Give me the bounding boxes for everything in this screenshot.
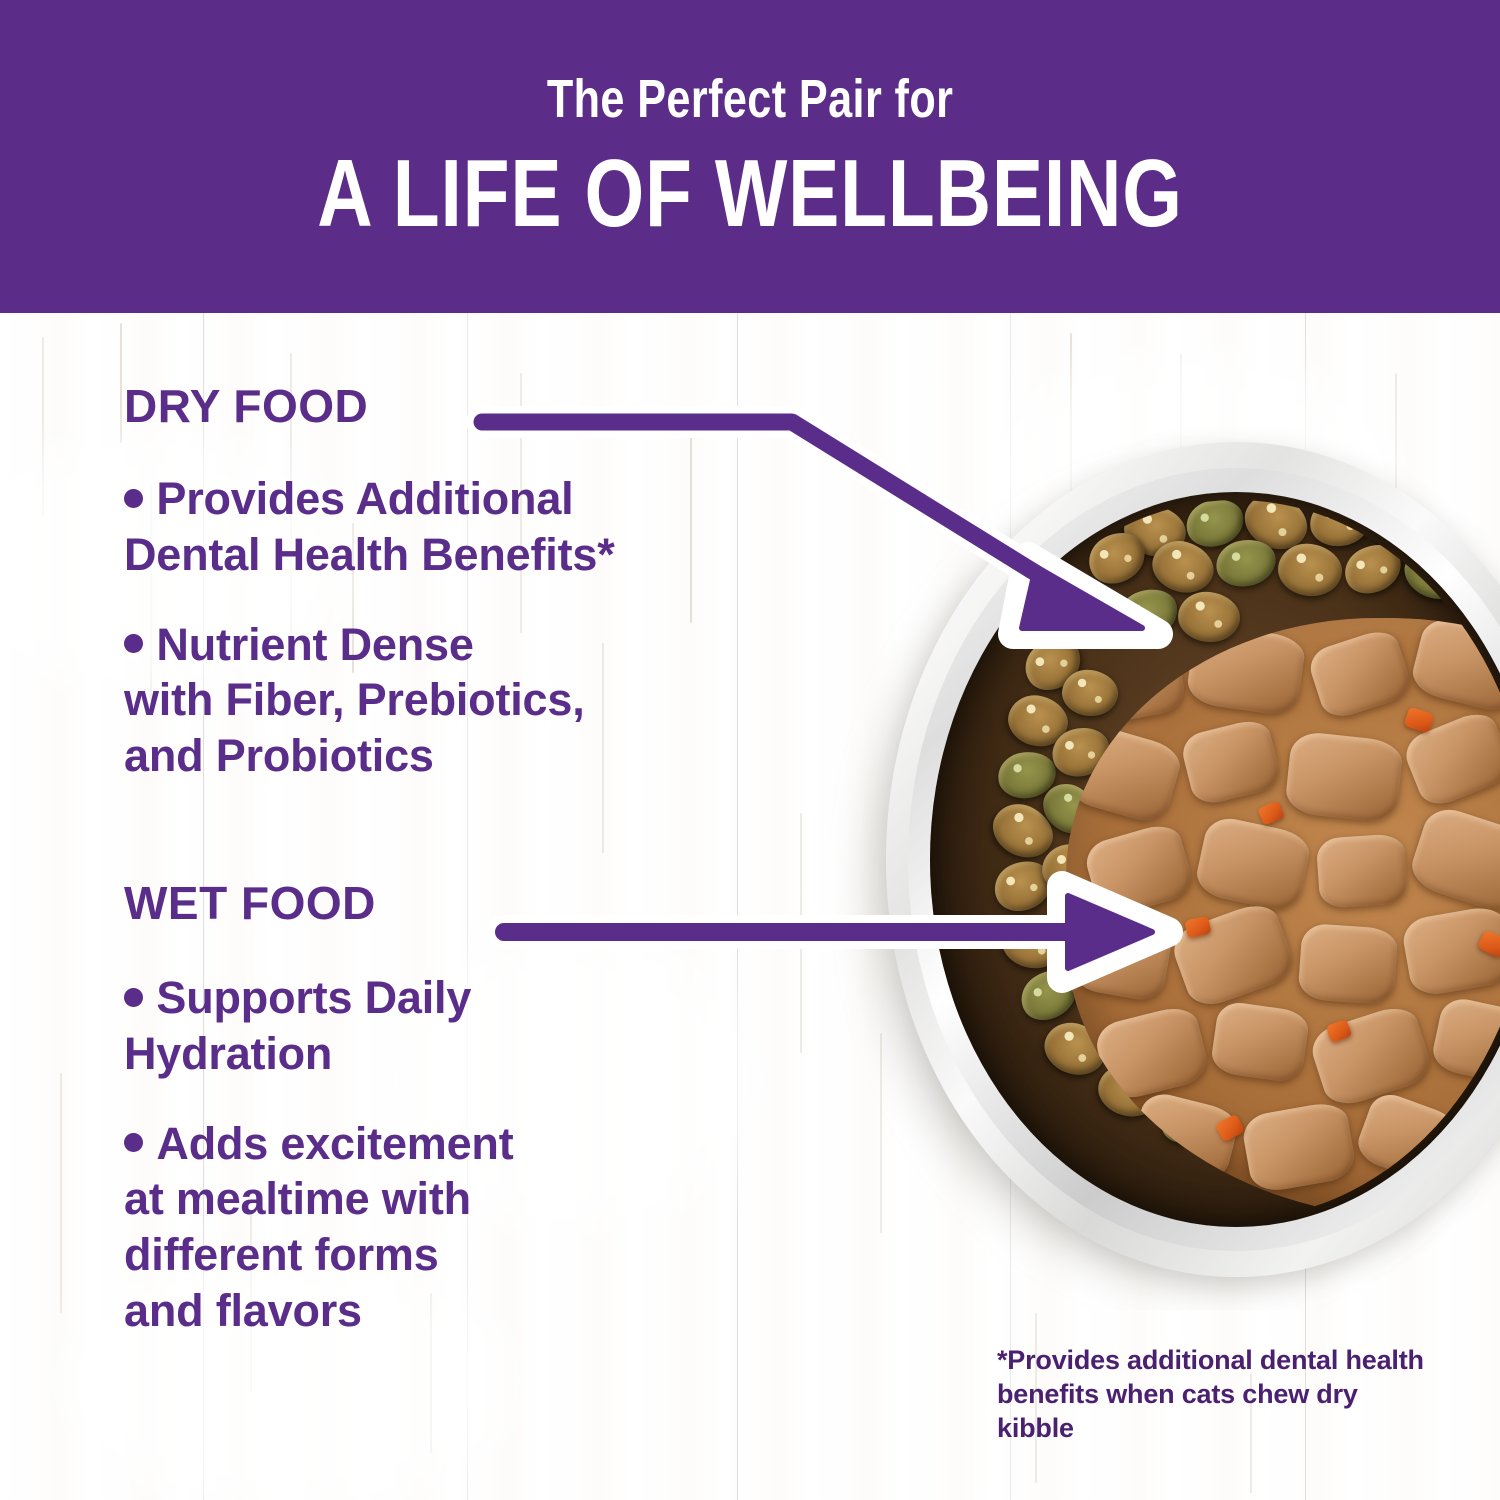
bullet-wet-1-line-1: Supports Daily: [156, 972, 471, 1023]
benefits-copy-column: DRY FOOD Provides Additional Dental Heal…: [124, 383, 804, 1339]
bullet-dry-1: Provides Additional Dental Health Benefi…: [124, 471, 804, 583]
bullet-wet-1: Supports Daily Hydration: [124, 970, 804, 1082]
bullet-dot-icon: [124, 1133, 143, 1152]
bullet-wet-2-line-2: at mealtime with: [124, 1173, 471, 1224]
bullet-wet-2-line-3: different forms: [124, 1229, 439, 1280]
bullet-wet-2: Adds excitement at mealtime with differe…: [124, 1116, 804, 1339]
bullet-dry-2-line-1: Nutrient Dense: [156, 619, 473, 670]
bullet-dry-1-line-1: Provides Additional: [156, 473, 573, 524]
wet-food-gravy: [1066, 618, 1500, 1218]
header-line-1: The Perfect Pair for: [547, 72, 954, 126]
section-heading-dry-food: DRY FOOD: [124, 383, 804, 429]
bullet-dot-icon: [124, 988, 143, 1007]
bullet-dry-2-line-3: and Probiotics: [124, 730, 434, 781]
promo-infographic: The Perfect Pair for A LIFE OF WELLBEING: [0, 0, 1500, 1500]
footnote-line-1: *Provides additional dental health: [997, 1345, 1424, 1375]
bullet-dry-2: Nutrient Dense with Fiber, Prebiotics, a…: [124, 617, 804, 784]
bullet-dry-2-line-2: with Fiber, Prebiotics,: [124, 674, 585, 725]
bullet-wet-2-line-4: and flavors: [124, 1285, 362, 1336]
bullet-dry-1-line-2: Dental Health Benefits*: [124, 529, 615, 580]
footnote-line-2: benefits when cats chew dry kibble: [997, 1379, 1358, 1443]
dry-kibble-ring: [938, 500, 1500, 1219]
footnote: *Provides additional dental health benef…: [997, 1344, 1427, 1445]
header-line-2: A LIFE OF WELLBEING: [317, 146, 1183, 242]
bullet-dot-icon: [124, 634, 143, 653]
bullet-wet-1-line-2: Hydration: [124, 1028, 332, 1079]
bullet-wet-2-line-1: Adds excitement: [156, 1118, 513, 1169]
food-bowl-photo: [830, 420, 1500, 1310]
section-heading-wet-food: WET FOOD: [124, 880, 804, 926]
header-banner: The Perfect Pair for A LIFE OF WELLBEING: [0, 0, 1500, 313]
bullet-dot-icon: [124, 489, 143, 508]
